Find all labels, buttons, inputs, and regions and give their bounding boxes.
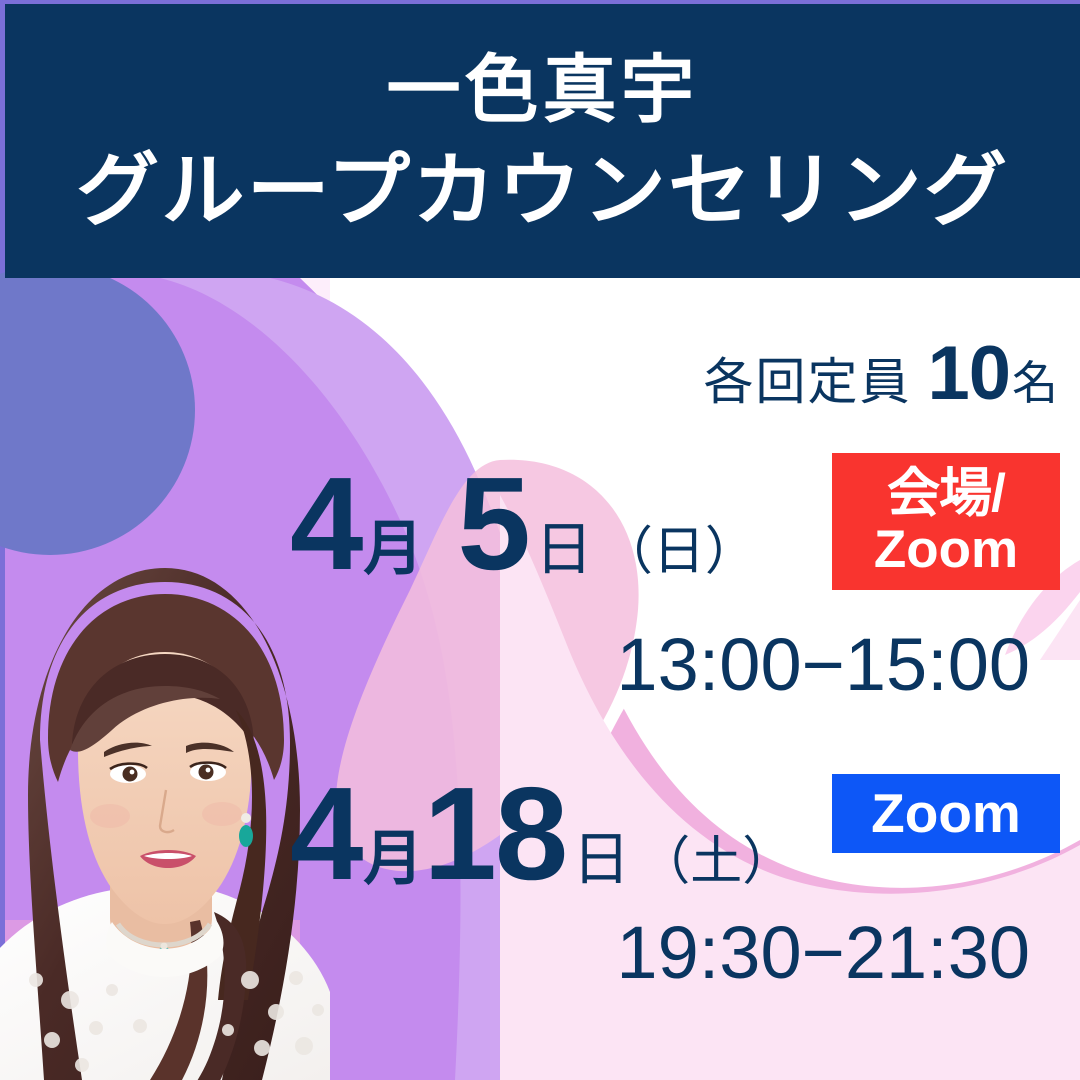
event-weekday: （土）: [638, 836, 794, 888]
capacity-row: 各回定員 10 名: [703, 330, 1058, 417]
event-month-kanji: 月: [363, 829, 423, 889]
program-title: グループカウンセリング: [76, 151, 1009, 231]
event-day-kanji: 日: [572, 831, 630, 889]
event-date: 4 月 5 日 （日）: [290, 458, 757, 588]
event-month-number: 4: [290, 458, 361, 590]
event-weekday: （日）: [601, 526, 757, 578]
presenter-name: 一色真宇: [387, 53, 699, 127]
event-month-number: 4: [290, 768, 361, 900]
badge-line-2: Zoom: [874, 522, 1018, 577]
title-banner: 一色真宇 グループカウンセリング: [5, 4, 1080, 278]
event-time: 13:00−15:00: [616, 628, 1030, 702]
event-details: 各回定員 10 名 4 月 5 日 （日） 会場/ Zoom 13:00−15:…: [0, 278, 1080, 1080]
event-day-kanji: 日: [535, 521, 593, 579]
event-month-kanji: 月: [363, 519, 423, 579]
event-time: 19:30−21:30: [616, 916, 1030, 990]
capacity-label: 各回定員: [703, 342, 911, 414]
event-date: 4 月 18 日 （土）: [290, 768, 794, 898]
capacity-unit: 名: [1012, 347, 1058, 413]
format-badge-zoom[interactable]: Zoom: [832, 774, 1060, 853]
capacity-number: 10: [927, 330, 1010, 417]
badge-line-1: Zoom: [871, 785, 1021, 842]
format-badge-venue-zoom[interactable]: 会場/ Zoom: [832, 453, 1060, 590]
event-day-number: 5: [457, 458, 528, 590]
badge-line-1: 会場/: [887, 466, 1005, 521]
poster-canvas: 一色真宇 グループカウンセリング: [0, 0, 1080, 1080]
event-day-number: 18: [423, 768, 566, 900]
